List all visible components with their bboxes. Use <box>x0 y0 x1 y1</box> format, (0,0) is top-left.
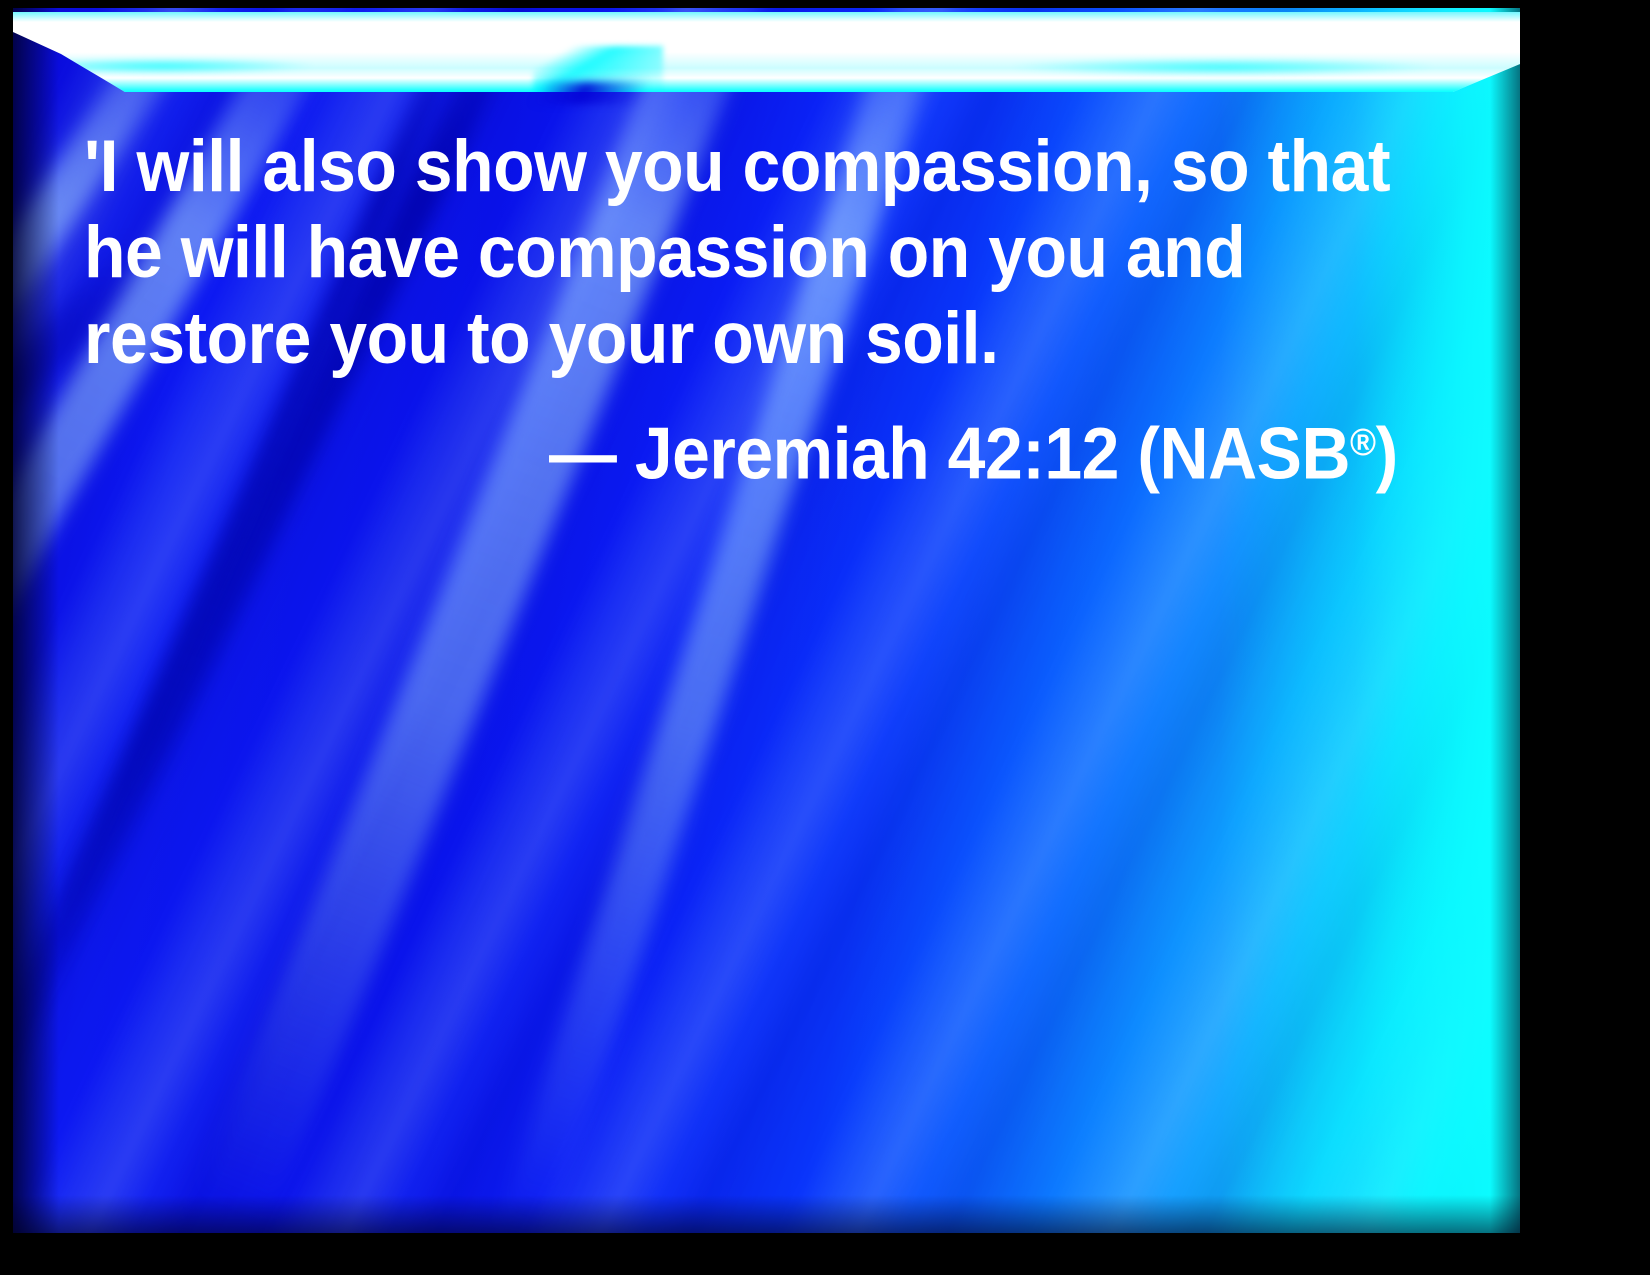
citation-translation-close: ) <box>1376 414 1398 495</box>
registered-trademark-icon: ® <box>1350 422 1376 464</box>
verse-line-3: restore you to your own soil. <box>84 296 1386 382</box>
banner-dark-ray <box>529 82 649 104</box>
verse-text-block: 'I will also show you compassion, so tha… <box>84 124 1484 498</box>
banner-cyan-edge <box>13 12 1520 92</box>
top-banner <box>13 12 1520 92</box>
verse-citation: — Jeremiah 42:12 (NASB®) <box>84 400 1386 498</box>
citation-dash: — <box>549 414 616 495</box>
verse-line-1: 'I will also show you compassion, so tha… <box>84 124 1386 210</box>
banner-cyan-wisp <box>1013 58 1433 76</box>
citation-reference: Jeremiah 42:12 <box>635 414 1119 495</box>
citation-translation-open: (NASB <box>1137 414 1350 495</box>
slide-canvas: 'I will also show you compassion, so tha… <box>13 8 1520 1233</box>
slide-frame: 'I will also show you compassion, so tha… <box>0 0 1650 1275</box>
verse-line-2: he will have compassion on you and <box>84 210 1386 296</box>
